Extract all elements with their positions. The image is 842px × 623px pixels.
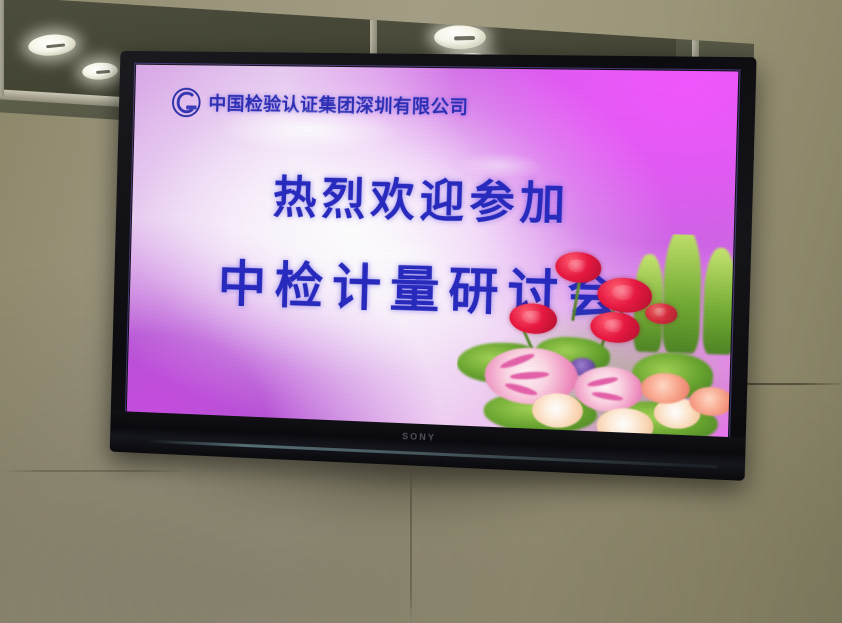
cream-rose-3 — [654, 397, 701, 429]
lily-stripe-4 — [586, 375, 618, 388]
slide-event-title-line: 中检计量研讨会 — [217, 244, 629, 328]
green-spike-mid — [633, 254, 665, 352]
lamp-slit — [46, 43, 65, 48]
peach-bloom — [640, 372, 690, 404]
red-rose-small — [645, 303, 677, 324]
green-spike-tall — [662, 229, 703, 354]
lamp-slit — [96, 70, 111, 74]
tv-cast-shadow — [150, 462, 710, 592]
ceiling-mullion-left — [0, 0, 4, 97]
purple-bud-1 — [569, 357, 595, 376]
company-name-text: 中国检验认证集团深圳有限公司 — [208, 90, 469, 120]
pink-lily-right — [574, 365, 644, 412]
leaf-right — [632, 351, 714, 399]
logo-bar — [186, 105, 197, 110]
presentation-slide: 中国检验认证集团深圳有限公司 热烈欢迎参加 中检计量研讨会 — [127, 65, 739, 437]
sony-brand-label: SONY — [402, 431, 436, 442]
leaf-bottom-right — [602, 399, 718, 437]
cream-rose-1 — [531, 392, 583, 428]
lily-stripe-2 — [510, 370, 550, 380]
slide-welcome-line: 热烈欢迎参加 — [272, 161, 571, 233]
purple-bud-2 — [609, 375, 632, 392]
leaf-left-large — [457, 341, 542, 384]
pink-lily-large — [484, 346, 579, 406]
screenshot-scene: 中国检验认证集团深圳有限公司 热烈欢迎参加 中检计量研讨会 — [0, 0, 842, 623]
lily-stripe-3 — [504, 381, 538, 397]
slide-header: 中国检验认证集团深圳有限公司 — [172, 88, 469, 122]
wall-mounted-television[interactable]: 中国检验认证集团深圳有限公司 热烈欢迎参加 中检计量研讨会 — [110, 51, 757, 481]
tv-screen[interactable]: 中国检验认证集团深圳有限公司 热烈欢迎参加 中检计量研讨会 — [127, 65, 739, 437]
lamp-slit — [454, 36, 475, 40]
lily-stripe-1 — [499, 351, 536, 370]
lily-stripe-5 — [591, 390, 623, 402]
peach-bloom-right — [689, 386, 733, 416]
ccic-circular-c-logo-icon — [172, 88, 201, 118]
leaf-center — [536, 336, 611, 373]
